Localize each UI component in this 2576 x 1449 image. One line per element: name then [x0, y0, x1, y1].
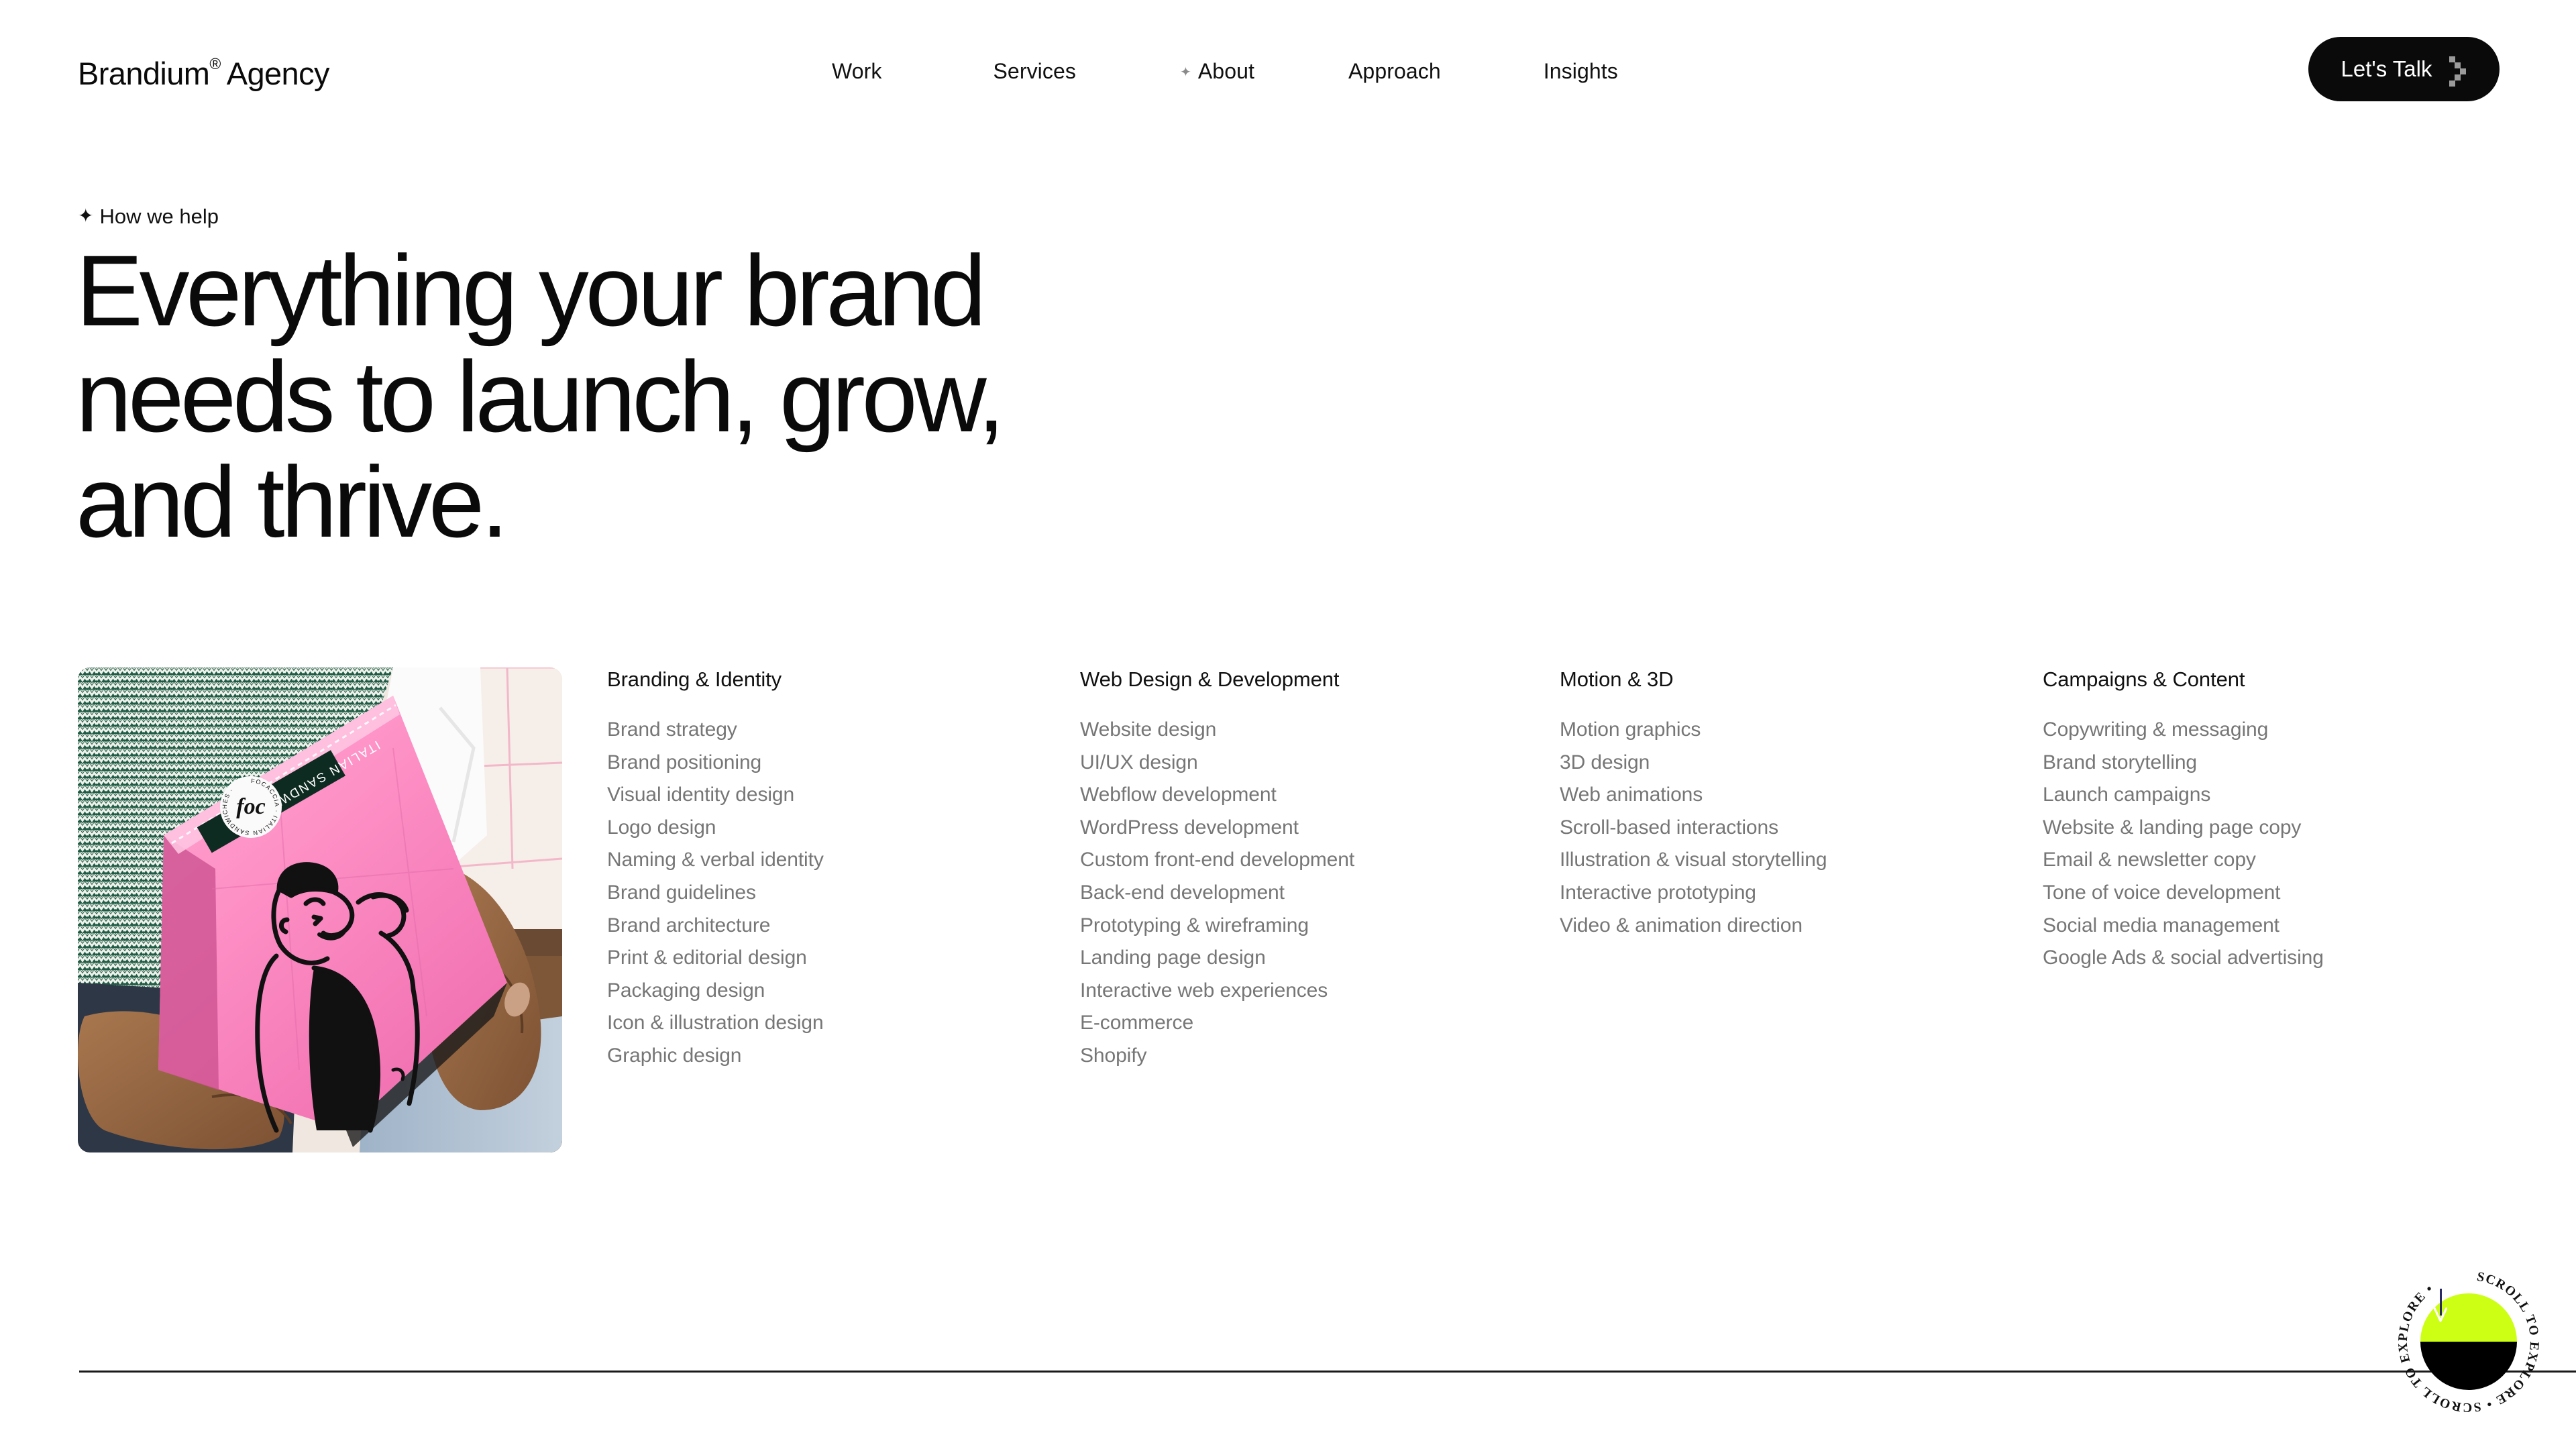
- service-item[interactable]: Social media management: [2043, 910, 2512, 943]
- service-item[interactable]: Brand guidelines: [607, 877, 1050, 910]
- service-item[interactable]: Website design: [1080, 714, 1543, 747]
- page-title: Everything your brand needs to launch, g…: [76, 238, 1216, 555]
- pink-bag-photo: ITALIAN SANDWICHES FOCACCIA · ITALIAN SA…: [78, 667, 562, 1152]
- section-eyebrow: ✦ How we help: [78, 205, 219, 229]
- lets-talk-button[interactable]: Let's Talk: [2308, 37, 2500, 101]
- section-divider: [79, 1371, 2576, 1373]
- service-item[interactable]: 3D design: [1560, 747, 2023, 780]
- service-column-web-design-development: Web Design & Development Website design …: [1080, 667, 1543, 1073]
- service-item[interactable]: UI/UX design: [1080, 747, 1543, 780]
- service-item[interactable]: WordPress development: [1080, 812, 1543, 845]
- active-star-icon: ✦: [1180, 66, 1191, 79]
- service-item[interactable]: E-commerce: [1080, 1007, 1543, 1040]
- title-line-3: and thrive.: [76, 449, 1216, 555]
- service-item[interactable]: Landing page design: [1080, 942, 1543, 975]
- svg-text:foc: foc: [236, 794, 265, 819]
- service-item-list: Motion graphics 3D design Web animations…: [1560, 714, 2023, 942]
- service-column-campaigns-content: Campaigns & Content Copywriting & messag…: [2043, 667, 2512, 975]
- logo-registered-mark: ®: [209, 56, 220, 72]
- service-column-title: Branding & Identity: [607, 667, 1050, 692]
- nav-item-label: Insights: [1544, 59, 1618, 84]
- service-item[interactable]: Email & newsletter copy: [2043, 844, 2512, 877]
- service-item[interactable]: Logo design: [607, 812, 1050, 845]
- service-item[interactable]: Tone of voice development: [2043, 877, 2512, 910]
- service-item[interactable]: Naming & verbal identity: [607, 844, 1050, 877]
- nav-item-work[interactable]: Work: [832, 59, 881, 84]
- cta-label: Let's Talk: [2341, 56, 2432, 82]
- service-item[interactable]: Brand storytelling: [2043, 747, 2512, 780]
- main-navigation: Work Services ✦ About Approach Insights: [832, 59, 1618, 84]
- arrow-down-icon: [2434, 1289, 2447, 1322]
- service-item[interactable]: Brand strategy: [607, 714, 1050, 747]
- service-item[interactable]: Back-end development: [1080, 877, 1543, 910]
- service-item[interactable]: Webflow development: [1080, 779, 1543, 812]
- service-item[interactable]: Illustration & visual storytelling: [1560, 844, 2023, 877]
- eyebrow-label: How we help: [99, 205, 218, 229]
- service-item[interactable]: Visual identity design: [607, 779, 1050, 812]
- arrow-right-pixel-icon: [2449, 55, 2467, 83]
- service-item-list: Brand strategy Brand positioning Visual …: [607, 714, 1050, 1073]
- service-item[interactable]: Scroll-based interactions: [1560, 812, 2023, 845]
- service-item[interactable]: Website & landing page copy: [2043, 812, 2512, 845]
- service-item-list: Copywriting & messaging Brand storytelli…: [2043, 714, 2512, 975]
- service-column-title: Web Design & Development: [1080, 667, 1543, 692]
- service-item[interactable]: Google Ads & social advertising: [2043, 942, 2512, 975]
- logo-suffix: Agency: [227, 55, 329, 92]
- title-line-1: Everything your brand: [76, 238, 1216, 344]
- service-item[interactable]: Interactive prototyping: [1560, 877, 2023, 910]
- nav-item-services[interactable]: Services: [993, 59, 1076, 84]
- nav-item-insights[interactable]: Insights: [1544, 59, 1618, 84]
- scroll-to-explore-badge[interactable]: SCROLL TO EXPLORE • SCROLL TO EXPLORE •: [2392, 1265, 2545, 1418]
- service-item[interactable]: Custom front-end development: [1080, 844, 1543, 877]
- service-item[interactable]: Shopify: [1080, 1040, 1543, 1073]
- service-item[interactable]: Brand positioning: [607, 747, 1050, 780]
- nav-item-label: About: [1198, 59, 1254, 84]
- logo-name: Brandium: [78, 55, 209, 92]
- nav-item-label: Services: [993, 59, 1076, 84]
- feature-image: ITALIAN SANDWICHES FOCACCIA · ITALIAN SA…: [78, 667, 562, 1152]
- service-item[interactable]: Graphic design: [607, 1040, 1050, 1073]
- service-item[interactable]: Web animations: [1560, 779, 2023, 812]
- service-column-branding-identity: Branding & Identity Brand strategy Brand…: [607, 667, 1050, 1073]
- service-column-title: Motion & 3D: [1560, 667, 2023, 692]
- service-column-title: Campaigns & Content: [2043, 667, 2512, 692]
- service-item[interactable]: Brand architecture: [607, 910, 1050, 943]
- service-item-list: Website design UI/UX design Webflow deve…: [1080, 714, 1543, 1073]
- nav-item-approach[interactable]: Approach: [1348, 59, 1441, 84]
- service-item[interactable]: Video & animation direction: [1560, 910, 2023, 943]
- service-item[interactable]: Launch campaigns: [2043, 779, 2512, 812]
- service-item[interactable]: Interactive web experiences: [1080, 975, 1543, 1008]
- service-item[interactable]: Copywriting & messaging: [2043, 714, 2512, 747]
- title-line-2: needs to launch, grow,: [76, 344, 1216, 450]
- service-item[interactable]: Print & editorial design: [607, 942, 1050, 975]
- service-item[interactable]: Icon & illustration design: [607, 1007, 1050, 1040]
- service-item[interactable]: Packaging design: [607, 975, 1050, 1008]
- service-item[interactable]: Motion graphics: [1560, 714, 2023, 747]
- nav-item-label: Work: [832, 59, 881, 84]
- service-item[interactable]: Prototyping & wireframing: [1080, 910, 1543, 943]
- service-column-motion-3d: Motion & 3D Motion graphics 3D design We…: [1560, 667, 2023, 942]
- nav-item-about[interactable]: ✦ About: [1180, 59, 1254, 84]
- scroll-badge-disc-bottom: [2420, 1342, 2517, 1390]
- nav-item-label: Approach: [1348, 59, 1441, 84]
- site-header: Brandium ® Agency Work Services ✦ About …: [0, 0, 2576, 134]
- sparkle-icon: ✦: [78, 207, 93, 225]
- site-logo[interactable]: Brandium ® Agency: [78, 55, 329, 92]
